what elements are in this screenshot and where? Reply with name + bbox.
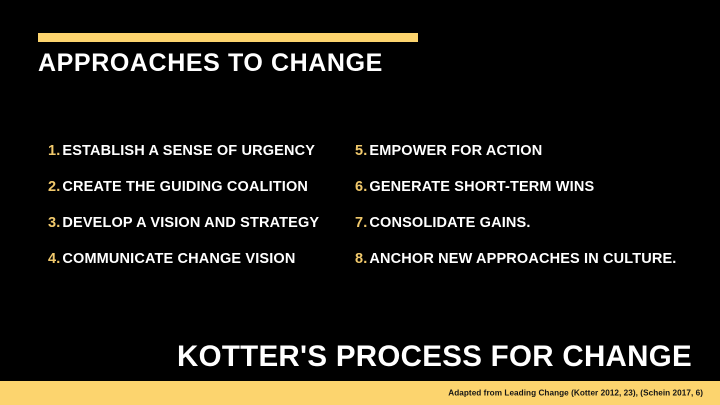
- list-item-number: 6.: [355, 179, 367, 195]
- steps-column-right: 5.EMPOWER FOR ACTION 6.GENERATE SHORT-TE…: [355, 144, 693, 267]
- list-item-label: GENERATE SHORT-TERM WINS: [369, 179, 594, 195]
- list-item-label: ESTABLISH A SENSE OF URGENCY: [62, 143, 315, 159]
- list-item-number: 2.: [48, 179, 60, 195]
- list-item-number: 7.: [355, 215, 367, 231]
- list-item-label: COMMUNICATE CHANGE VISION: [62, 251, 295, 267]
- slide-subtitle: KOTTER'S PROCESS FOR CHANGE: [177, 340, 692, 374]
- kotter-steps-list: 1.ESTABLISH A SENSE OF URGENCY 2.CREATE …: [48, 144, 693, 267]
- list-item-number: 1.: [48, 143, 60, 159]
- list-item: 6.GENERATE SHORT-TERM WINS: [355, 180, 693, 195]
- list-item-number: 5.: [355, 143, 367, 159]
- list-item-label: EMPOWER FOR ACTION: [369, 143, 542, 159]
- list-item-number: 4.: [48, 251, 60, 267]
- list-item-label: ANCHOR NEW APPROACHES IN CULTURE.: [369, 251, 676, 267]
- list-item: 4.COMMUNICATE CHANGE VISION: [48, 252, 355, 267]
- presentation-slide: APPROACHES TO CHANGE 1.ESTABLISH A SENSE…: [0, 0, 720, 405]
- list-item: 2.CREATE THE GUIDING COALITION: [48, 180, 355, 195]
- list-item-number: 3.: [48, 215, 60, 231]
- steps-column-left: 1.ESTABLISH A SENSE OF URGENCY 2.CREATE …: [48, 144, 355, 267]
- list-item: 8.ANCHOR NEW APPROACHES IN CULTURE.: [355, 252, 693, 267]
- source-citation: Adapted from Leading Change (Kotter 2012…: [448, 389, 703, 398]
- list-item: 7.CONSOLIDATE GAINS.: [355, 216, 693, 231]
- list-item-label: DEVELOP A VISION AND STRATEGY: [62, 215, 319, 231]
- list-item: 1.ESTABLISH A SENSE OF URGENCY: [48, 144, 355, 159]
- list-item: 5.EMPOWER FOR ACTION: [355, 144, 693, 159]
- page-title: APPROACHES TO CHANGE: [38, 48, 383, 78]
- list-item-number: 8.: [355, 251, 367, 267]
- list-item-label: CREATE THE GUIDING COALITION: [62, 179, 308, 195]
- list-item-label: CONSOLIDATE GAINS.: [369, 215, 530, 231]
- title-accent-bar: [38, 33, 418, 42]
- list-item: 3.DEVELOP A VISION AND STRATEGY: [48, 216, 355, 231]
- footer-band: Adapted from Leading Change (Kotter 2012…: [0, 381, 720, 405]
